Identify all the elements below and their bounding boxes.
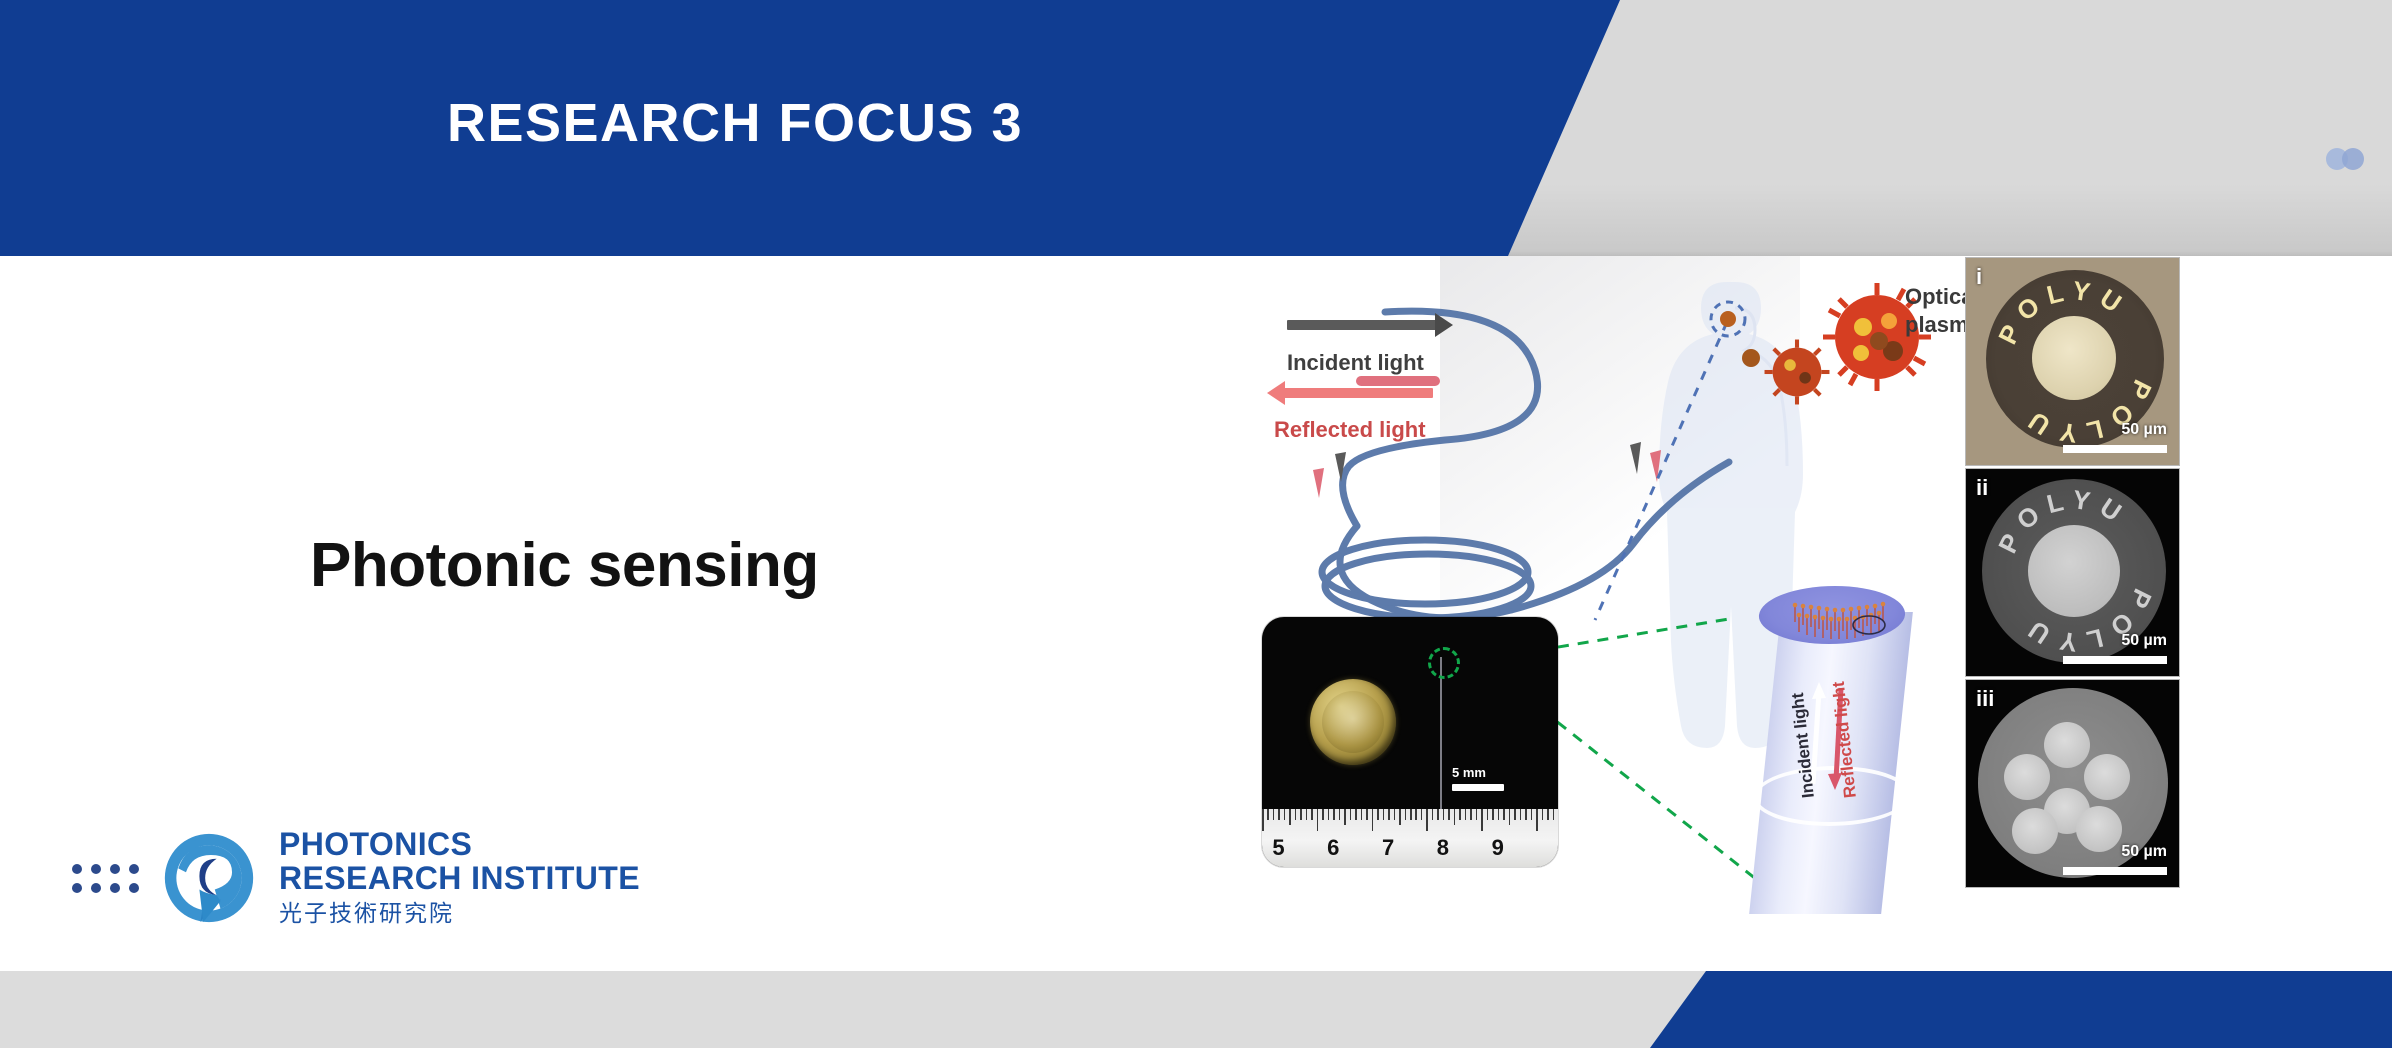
ruler-number: 9 bbox=[1492, 835, 1504, 861]
slide-canvas: RESEARCH FOCUS 3 Photonic sensing PHOTON… bbox=[0, 0, 2392, 1048]
ruler-number: 8 bbox=[1437, 835, 1449, 861]
reflected-light-label: Reflected light bbox=[1274, 417, 1426, 444]
scale-bar-line-iii bbox=[2063, 867, 2167, 875]
micrograph-panel-iii: iii 50 µm bbox=[1965, 679, 2180, 888]
logo-line-2: RESEARCH INSTITUTE bbox=[279, 862, 640, 896]
secondary-site-dot bbox=[1742, 349, 1760, 367]
fiber-needle bbox=[1440, 657, 1442, 829]
scale-bar-label-i: 50 µm bbox=[2121, 421, 2167, 439]
cylinder-light-arrows bbox=[1737, 584, 1927, 914]
svg-text:POLYU: POLYU bbox=[1992, 275, 2134, 349]
scale-bar-5mm-label: 5 mm bbox=[1452, 765, 1486, 780]
scale-bar-label-ii: 50 µm bbox=[2121, 632, 2167, 650]
footer-blue-accent bbox=[1650, 971, 2392, 1048]
ruler-number: 6 bbox=[1327, 835, 1339, 861]
nano-spot bbox=[2076, 806, 2122, 852]
inline-flow-arrows bbox=[1313, 442, 1661, 498]
scale-bar-5mm: 5 mm bbox=[1452, 765, 1504, 791]
micrograph-panel-ii: POLYU POLYU ii 50 µm bbox=[1965, 468, 2180, 677]
photonics-research-institute-logo: PHOTONICS RESEARCH INSTITUTE 光子技術研究院 bbox=[72, 828, 640, 929]
panel-index-ii: ii bbox=[1976, 475, 1988, 501]
micrograph-panel-i: POLYU POLYU i 50 µm bbox=[1965, 257, 2180, 466]
scale-bar-label-iii: 50 µm bbox=[2121, 843, 2167, 861]
ruler-strip: 56789 bbox=[1262, 809, 1558, 867]
dot-grid-icon bbox=[72, 864, 139, 893]
fiber-coil bbox=[1322, 540, 1531, 618]
panel-index-i: i bbox=[1976, 264, 1982, 290]
logo-line-1: PHOTONICS bbox=[279, 828, 640, 862]
scale-bar-line-ii bbox=[2063, 656, 2167, 664]
reflected-light-arrow-icon bbox=[1283, 388, 1433, 398]
sensing-site-dot bbox=[1720, 311, 1736, 327]
hong-kong-coin-image bbox=[1310, 679, 1396, 765]
panel-index-iii: iii bbox=[1976, 686, 1994, 712]
svg-text:POLYU: POLYU bbox=[1992, 484, 2134, 558]
polyu-photonics-emblem-icon bbox=[161, 830, 257, 926]
zoom-region-circle-icon bbox=[1428, 647, 1460, 679]
ruler-ticks bbox=[1262, 809, 1558, 833]
incident-light-label: Incident light bbox=[1287, 350, 1424, 377]
coin-scale-photo: 5 mm 56789 bbox=[1262, 617, 1558, 867]
ruler-number: 7 bbox=[1382, 835, 1394, 861]
scale-bar-line-i bbox=[2063, 445, 2167, 453]
nano-spot bbox=[2044, 722, 2090, 768]
fiber-tip-cylinder-illustration: Incident light Reflected light bbox=[1737, 584, 1927, 914]
headline-text: Photonic sensing bbox=[310, 530, 819, 601]
micrograph-panel-column: POLYU POLYU i 50 µm bbox=[1965, 257, 2180, 890]
incident-light-arrow-icon bbox=[1287, 320, 1437, 330]
page-title: RESEARCH FOCUS 3 bbox=[0, 96, 1470, 150]
nano-spot bbox=[2012, 808, 2058, 854]
decorative-circles-icon bbox=[2326, 148, 2368, 170]
ruler-number: 5 bbox=[1272, 835, 1284, 861]
logo-line-3-chinese: 光子技術研究院 bbox=[279, 898, 640, 929]
research-figure: Incident light Reflected light Optical f… bbox=[1265, 262, 2205, 962]
nano-spot bbox=[2004, 754, 2050, 800]
ruler-numbers: 56789 bbox=[1262, 833, 1558, 867]
nano-spot bbox=[2084, 754, 2130, 800]
